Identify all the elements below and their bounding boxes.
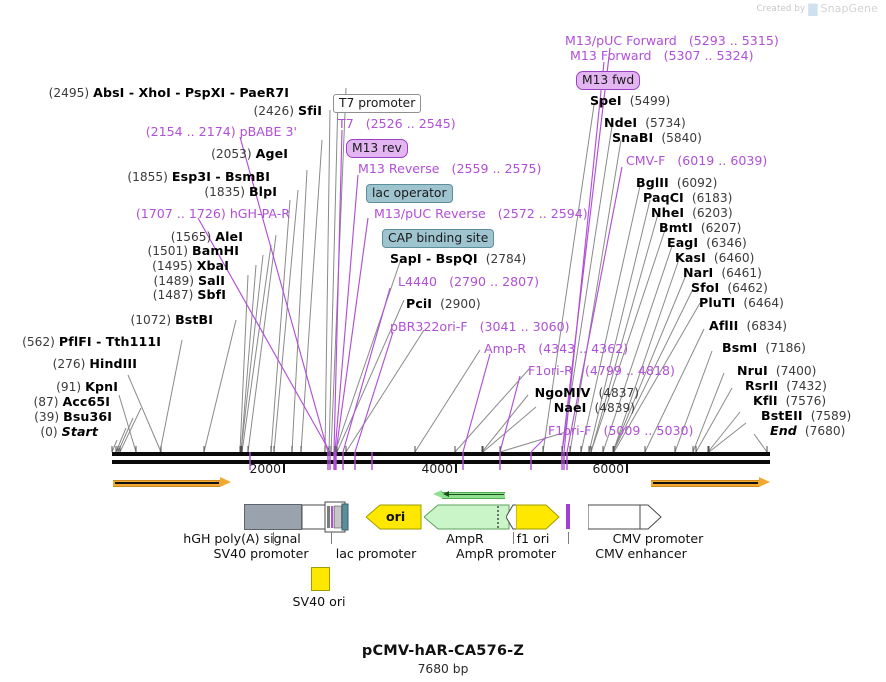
primer-range: (2154 .. 2174) [146, 124, 236, 139]
enzyme-name: PluTI [699, 295, 735, 310]
primer-label-pbabe3[interactable]: (2154 .. 2174) pBABE 3' [146, 125, 297, 139]
enzyme-label-spei[interactable]: SpeI (5499) [590, 94, 670, 108]
feature-cmv-promoter[interactable] [588, 503, 662, 531]
enzyme-name: PaqCI [643, 190, 684, 205]
feature-label-sv40-promoter[interactable]: SV40 promoter [213, 546, 308, 561]
enzyme-label-rsrii[interactable]: RsrII (7432) [745, 379, 827, 393]
enzyme-position: (1487) [153, 288, 194, 302]
enzyme-name: PciI [406, 296, 432, 311]
feature-pill-lac-operator[interactable]: lac operator [366, 184, 453, 203]
enzyme-label-sapi-group[interactable]: SapI - BspQI (2784) [390, 252, 526, 266]
enzyme-label-bglii[interactable]: BglII (6092) [636, 176, 717, 190]
enzyme-name: XbaI [197, 258, 229, 273]
enzyme-label-kpni[interactable]: (91) KpnI [56, 380, 118, 394]
feature-label-cmv-promoter[interactable]: CMV promoter [613, 531, 704, 546]
enzyme-position: (1489) [153, 274, 194, 288]
enzyme-position: (5734) [645, 116, 686, 130]
terminus-label-end[interactable]: End (7680) [770, 424, 845, 438]
primer-range: (1707 .. 1726) [136, 206, 226, 221]
orf-arrow-left [113, 477, 231, 488]
enzyme-label-bsu36i[interactable]: (39) Bsu36I [34, 410, 112, 424]
enzyme-position: (1835) [204, 185, 245, 199]
primer-name: pBR322ori-F [390, 319, 468, 334]
primer-label-hgh-pa-r[interactable]: (1707 .. 1726) hGH-PA-R [136, 207, 290, 221]
primer-range: (3041 .. 3060) [480, 319, 570, 334]
enzyme-name: HindIII [89, 356, 137, 371]
enzyme-label-xbai[interactable]: (1495) XbaI [152, 259, 229, 273]
enzyme-label-sfii[interactable]: (2426) SfiI [254, 104, 323, 118]
enzyme-position: (276) [53, 357, 86, 371]
primer-label-l4440[interactable]: L4440 (2790 .. 2807) [398, 275, 539, 289]
ruler-tick-4000 [455, 464, 457, 473]
enzyme-label-nari[interactable]: NarI (6461) [683, 266, 762, 280]
enzyme-label-eagi[interactable]: EagI (6346) [667, 236, 747, 250]
primer-name: M13 Reverse [358, 161, 440, 176]
enzyme-position: (6092) [677, 176, 718, 190]
enzyme-label-sbfi[interactable]: (1487) SbfI [153, 288, 226, 302]
enzyme-name: SapI [390, 251, 422, 266]
primer-name: hGH-PA-R [230, 206, 290, 221]
enzyme-name: NheI [651, 205, 684, 220]
enzyme-position: (4839) [594, 401, 635, 415]
enzyme-label-pluti[interactable]: PluTI (6464) [699, 296, 784, 310]
enzyme-position: (6462) [727, 281, 768, 295]
primer-name: Amp-R [484, 341, 526, 356]
primer-name: M13/pUC Reverse [374, 206, 486, 221]
enzyme-name: AbsI [93, 85, 124, 100]
enzyme-position: (2900) [440, 297, 481, 311]
watermark-brand: SnapGene [820, 2, 878, 15]
enzyme-position: (1495) [152, 259, 193, 273]
enzyme-label-aflii[interactable]: AflII (6834) [709, 319, 787, 333]
enzyme-name: SpeI [590, 93, 622, 108]
primer-label-pbr322ori-f[interactable]: pBR322ori-F (3041 .. 3060) [390, 320, 570, 334]
enzyme-label-sali[interactable]: (1489) SalI [153, 274, 225, 288]
enzyme-label-blpi[interactable]: (1835) BlpI [204, 185, 277, 199]
enzyme-label-esp3i-group[interactable]: (1855) Esp3I - BsmBI [127, 170, 270, 184]
feature-pill-m13-fwd[interactable]: M13 fwd [576, 71, 640, 90]
enzyme-position: (6461) [721, 266, 762, 280]
enzyme-name: NdeI [604, 115, 637, 130]
enzyme-name: SnaBI [612, 130, 653, 145]
enzyme-position: (6460) [714, 251, 755, 265]
enzyme-label-nrui[interactable]: NruI (7400) [737, 364, 816, 378]
enzyme-name: BstBI [175, 312, 213, 327]
enzyme-name: NruI [737, 363, 768, 378]
feature-label-ampr-promoter[interactable]: AmpR promoter [456, 546, 556, 561]
enzyme-name: RsrII [745, 378, 778, 393]
enzyme-label-agei[interactable]: (2053) AgeI [211, 147, 288, 161]
enzyme-label-nhei[interactable]: NheI (6203) [651, 206, 733, 220]
enzyme-label-snabi[interactable]: SnaBI (5840) [612, 131, 702, 145]
enzyme-name: SfiI [298, 103, 322, 118]
enzyme-label-sfoi[interactable]: SfoI (6462) [691, 281, 768, 295]
enzyme-position: (87) [33, 395, 58, 409]
enzyme-name: KflI [753, 393, 778, 408]
enzyme-position: (7589) [811, 409, 852, 423]
ruler-tick-6000 [626, 464, 628, 473]
primer-range: (2572 .. 2594) [498, 206, 588, 221]
enzyme-label-alei[interactable]: (1565) AleI [171, 230, 243, 244]
enzyme-name: Esp3I [172, 169, 211, 184]
primer-name: CMV-F [626, 153, 665, 168]
enzyme-position: (7576) [786, 394, 827, 408]
enzyme-name: EagI [667, 235, 698, 250]
enzyme-position: (2495) [49, 86, 90, 100]
primer-name: F1ori-R [528, 363, 573, 378]
feature-tick-sv40-promoter [331, 532, 332, 544]
primer-label-amp-r[interactable]: Amp-R (4343 .. 4362) [484, 342, 628, 356]
enzyme-name: BspQI [436, 251, 478, 266]
feature-tick-cmv-enhancer [568, 532, 569, 544]
enzyme-position: (1565) [171, 230, 212, 244]
snapgene-logo-icon: ▇ [808, 4, 817, 14]
enzyme-position: (39) [34, 410, 59, 424]
enzyme-position: (7432) [786, 379, 827, 393]
ruler-tick-label-6000: 6000 [592, 461, 624, 476]
feature-tick-ampr-promoter [513, 532, 514, 544]
enzyme-position: (6183) [692, 191, 733, 205]
plasmid-title: pCMV-hAR-CA576-Z [0, 643, 886, 659]
ampr-direction-arrow [433, 490, 505, 499]
primer-range: (2790 .. 2807) [449, 274, 539, 289]
enzyme-label-paqci[interactable]: PaqCI (6183) [643, 191, 732, 205]
primer-label-f1ori-f[interactable]: F1ori-F (5009 .. 5030) [548, 424, 693, 438]
enzyme-label-ndei[interactable]: NdeI (5734) [604, 116, 686, 130]
primer-name: pBABE 3' [240, 124, 297, 139]
terminus-position: (0) [40, 425, 57, 439]
enzyme-name: BstEII [761, 408, 803, 423]
enzyme-position: (2053) [211, 147, 252, 161]
enzyme-name: SbfI [197, 287, 226, 302]
enzyme-label-bamhi[interactable]: (1501) BamHI [148, 244, 240, 258]
enzyme-name: XhoI [138, 85, 170, 100]
feature-label-f1-ori[interactable]: f1 ori [517, 531, 550, 546]
feature-cmv-enhancer[interactable] [566, 504, 570, 529]
enzyme-position: (5499) [630, 94, 671, 108]
enzyme-label-kfli[interactable]: KflI (7576) [753, 394, 826, 408]
legend-label-sv40-ori[interactable]: SV40 ori [292, 594, 345, 609]
enzyme-label-absi-group[interactable]: (2495) AbsI - XhoI - PspXI - PaeR7I [49, 86, 289, 100]
enzyme-label-bsmi[interactable]: BsmI (7186) [722, 341, 806, 355]
enzyme-name: PaeR7I [239, 85, 289, 100]
enzyme-label-acc65i[interactable]: (87) Acc65I [33, 395, 110, 409]
primer-range: (4799 .. 4818) [585, 363, 675, 378]
ruler-tick-label-4000: 4000 [421, 461, 453, 476]
primer-range: (5293 .. 5315) [689, 33, 779, 48]
feature-ori-inline-label: ori [386, 509, 405, 524]
enzyme-name: SfoI [691, 280, 719, 295]
enzyme-label-hindiii[interactable]: (276) HindIII [53, 357, 137, 371]
terminus-name: End [770, 423, 797, 438]
enzyme-name: BlpI [249, 184, 277, 199]
enzyme-name: BsmI [722, 340, 757, 355]
feature-pill-cap-binding-site[interactable]: CAP binding site [382, 229, 494, 248]
enzyme-name: NarI [683, 265, 713, 280]
primer-name: M13/pUC Forward [565, 33, 677, 48]
enzyme-label-ngomiv[interactable]: NgoMIV (4837) [535, 386, 639, 400]
ruler-tick-label-2000: 2000 [249, 461, 281, 476]
enzyme-name: KpnI [85, 379, 118, 394]
enzyme-position: (7400) [776, 364, 817, 378]
enzyme-name: NgoMIV [535, 385, 591, 400]
primer-label-m13puc-forward[interactable]: M13/pUC Forward (5293 .. 5315) [565, 34, 779, 48]
enzyme-name: Acc65I [63, 394, 111, 409]
primer-range: (2559 .. 2575) [452, 161, 542, 176]
watermark-prefix: Created by [756, 4, 805, 14]
primer-name: F1ori-F [548, 423, 591, 438]
primer-name: T7 [338, 116, 354, 131]
feature-label-cmv-enhancer[interactable]: CMV enhancer [595, 546, 687, 561]
primer-label-f1ori-r[interactable]: F1ori-R (4799 .. 4818) [528, 364, 675, 378]
enzyme-label-pcii[interactable]: PciI (2900) [406, 297, 481, 311]
primer-range: (6019 .. 6039) [677, 153, 767, 168]
terminus-position: (7680) [805, 424, 846, 438]
enzyme-position: (2426) [254, 104, 295, 118]
enzyme-position: (6464) [743, 296, 784, 310]
primer-name: M13 Forward [570, 48, 652, 63]
primer-range: (4343 .. 4362) [538, 341, 628, 356]
primer-label-m13-forward[interactable]: M13 Forward (5307 .. 5324) [570, 49, 754, 63]
enzyme-position: (5840) [661, 131, 702, 145]
legend-swatch-sv40-ori[interactable] [311, 567, 330, 591]
enzyme-position: (1501) [148, 244, 189, 258]
enzyme-position: (6207) [701, 221, 742, 235]
feature-pill-t7-promoter[interactable]: T7 promoter [333, 94, 421, 113]
ruler-tick-2000 [283, 464, 285, 473]
feature-f1-ori[interactable] [516, 503, 560, 531]
primer-label-m13puc-reverse[interactable]: M13/pUC Reverse (2572 .. 2594) [374, 207, 588, 221]
enzyme-name: BamHI [192, 243, 239, 258]
terminus-label-start[interactable]: (0) Start [40, 425, 98, 439]
enzyme-name: PspXI [185, 85, 225, 100]
enzyme-name: BmtI [659, 220, 693, 235]
enzyme-position: (1072) [131, 313, 172, 327]
enzyme-name: KasI [675, 250, 706, 265]
enzyme-name: SalI [198, 273, 225, 288]
enzyme-label-bsteii[interactable]: BstEII (7589) [761, 409, 851, 423]
primer-range: (5307 .. 5324) [664, 48, 754, 63]
enzyme-position: (1855) [127, 170, 168, 184]
enzyme-name: BglII [636, 175, 669, 190]
enzyme-position: (7186) [765, 341, 806, 355]
enzyme-position: (4837) [598, 386, 639, 400]
enzyme-position: (562) [22, 335, 55, 349]
enzyme-name: PflFI [59, 334, 92, 349]
terminus-name: Start [62, 424, 98, 439]
enzyme-position: (2784) [486, 252, 527, 266]
enzyme-name: AgeI [256, 146, 288, 161]
orf-arrow-right [651, 477, 770, 488]
enzyme-position: (6203) [692, 206, 733, 220]
enzyme-position: (6346) [706, 236, 747, 250]
primer-label-cmv-f[interactable]: CMV-F (6019 .. 6039) [626, 154, 767, 168]
enzyme-position: (91) [56, 380, 81, 394]
enzyme-label-bstbi[interactable]: (1072) BstBI [131, 313, 213, 327]
primer-range: (2526 .. 2545) [366, 116, 456, 131]
enzyme-name: Bsu36I [63, 409, 112, 424]
feature-pill-m13-rev[interactable]: M13 rev [346, 139, 408, 158]
enzyme-name: AleI [215, 229, 243, 244]
feature-label-ampr[interactable]: AmpR [446, 531, 484, 546]
primer-range: (5009 .. 5030) [603, 423, 693, 438]
enzyme-name: AflII [709, 318, 738, 333]
enzyme-label-pflfi-group[interactable]: (562) PflFI - Tth111I [22, 335, 161, 349]
primer-label-t7[interactable]: T7 (2526 .. 2545) [338, 117, 456, 131]
plasmid-length: 7680 bp [0, 662, 886, 676]
enzyme-label-naei[interactable]: NaeI (4839) [554, 401, 635, 415]
primer-name: L4440 [398, 274, 437, 289]
feature-label-lac-promoter[interactable]: lac promoter [336, 546, 417, 561]
primer-label-m13-reverse[interactable]: M13 Reverse (2559 .. 2575) [358, 162, 541, 176]
feature-lac-promoter-cluster[interactable] [322, 500, 352, 534]
enzyme-name: BsmBI [225, 169, 270, 184]
feature-hgh-polya-signal[interactable] [244, 504, 302, 530]
enzyme-name: Tth111I [106, 334, 161, 349]
feature-ampr[interactable] [424, 503, 510, 531]
snapgene-watermark: Created by ▇ SnapGene [756, 2, 878, 15]
enzyme-label-kasi[interactable]: KasI (6460) [675, 251, 754, 265]
feature-label-hgh-polya-signal[interactable]: hGH poly(A) signal [183, 531, 301, 546]
enzyme-position: (6834) [746, 319, 787, 333]
enzyme-label-bmti[interactable]: BmtI (6207) [659, 221, 741, 235]
enzyme-name: NaeI [554, 400, 587, 415]
